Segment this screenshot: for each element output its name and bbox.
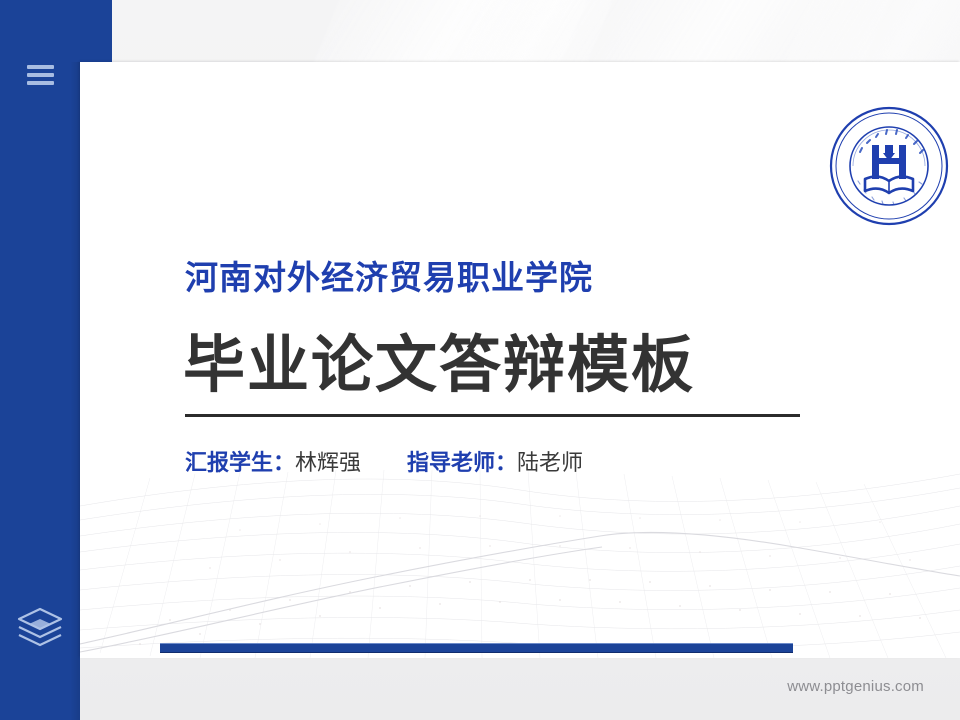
advisor-label: 指导老师： bbox=[407, 445, 517, 477]
presenter-value: 林辉强 bbox=[295, 445, 361, 477]
presenter-field: 汇报学生： 林辉强 bbox=[185, 445, 361, 477]
sidebar-top-block bbox=[0, 0, 112, 62]
slide-canvas: 河南对外经济贸易职业学院 毕业论文答辩模板 汇报学生： 林辉强 指导老师： 陆老… bbox=[80, 62, 960, 658]
advisor-value: 陆老师 bbox=[517, 445, 583, 477]
hamburger-bar bbox=[27, 73, 54, 77]
sidebar-shadow bbox=[70, 62, 80, 720]
presenter-label: 汇报学生： bbox=[185, 445, 295, 477]
university-seal-icon bbox=[828, 105, 950, 227]
slide-bottom-bar bbox=[160, 643, 793, 653]
hamburger-bar bbox=[27, 65, 54, 69]
footer-url: www.pptgenius.com bbox=[787, 678, 924, 695]
advisor-field: 指导老师： 陆老师 bbox=[407, 445, 583, 477]
wireframe-mesh-graphic bbox=[80, 448, 960, 658]
slide-bottom-bar-wrapper bbox=[80, 643, 960, 655]
presentation-meta: 汇报学生： 林辉强 指导老师： 陆老师 bbox=[185, 445, 583, 477]
layers-icon[interactable] bbox=[15, 605, 65, 649]
hamburger-icon[interactable] bbox=[27, 63, 54, 87]
page-title: 毕业论文答辩模板 bbox=[183, 314, 695, 404]
slide-viewer: 河南对外经济贸易职业学院 毕业论文答辩模板 汇报学生： 林辉强 指导老师： 陆老… bbox=[0, 0, 960, 720]
organization-name: 河南对外经济贸易职业学院 bbox=[185, 251, 593, 299]
hamburger-bar bbox=[27, 81, 54, 85]
title-divider bbox=[185, 414, 800, 417]
